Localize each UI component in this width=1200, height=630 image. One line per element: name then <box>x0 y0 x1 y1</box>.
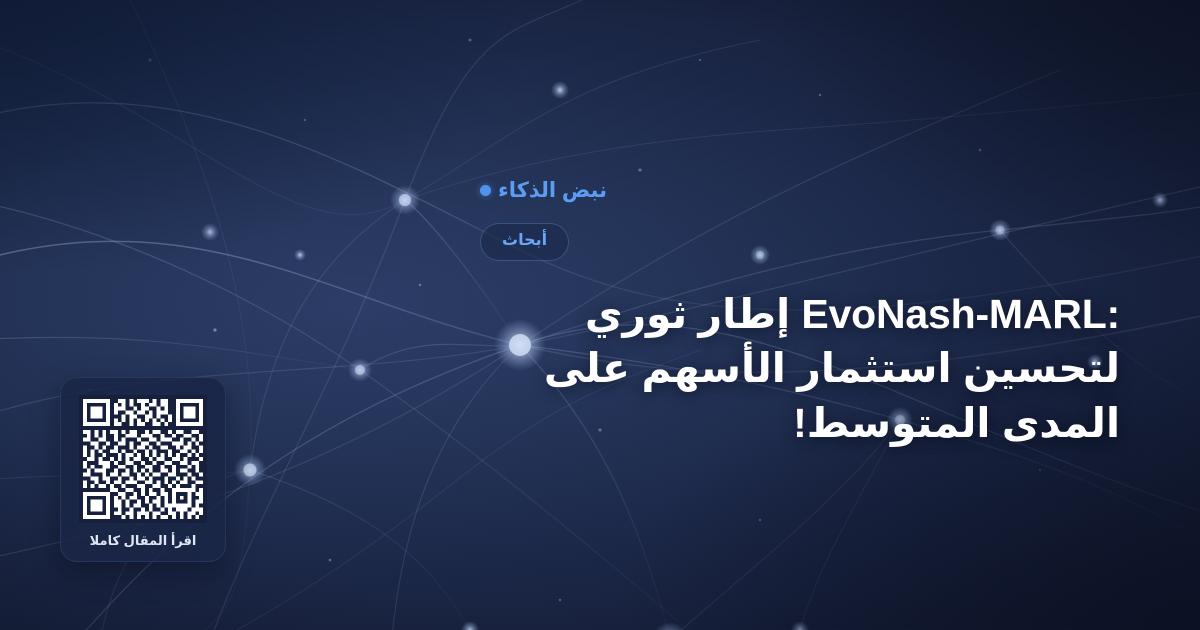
bullet-dot-icon <box>480 185 491 196</box>
qr-code-icon <box>79 395 207 523</box>
qr-panel[interactable]: اقرأ المقال كاملا <box>60 377 226 562</box>
title-prefix: EvoNash-MARL: <box>801 291 1120 337</box>
og-share-card: اقرأ المقال كاملا نبض الذكاء أبحاث EvoNa… <box>0 0 1200 630</box>
page-title: EvoNash-MARL: إطار ثوري لتحسين استثمار ا… <box>480 287 1120 451</box>
qr-caption: اقرأ المقال كاملا <box>90 534 197 547</box>
content-column: نبض الذكاء أبحاث EvoNash-MARL: إطار ثوري… <box>480 0 1200 630</box>
brand-name: نبض الذكاء <box>498 180 607 201</box>
brand-lockup: نبض الذكاء <box>480 180 607 201</box>
category-badge[interactable]: أبحاث <box>480 223 569 261</box>
